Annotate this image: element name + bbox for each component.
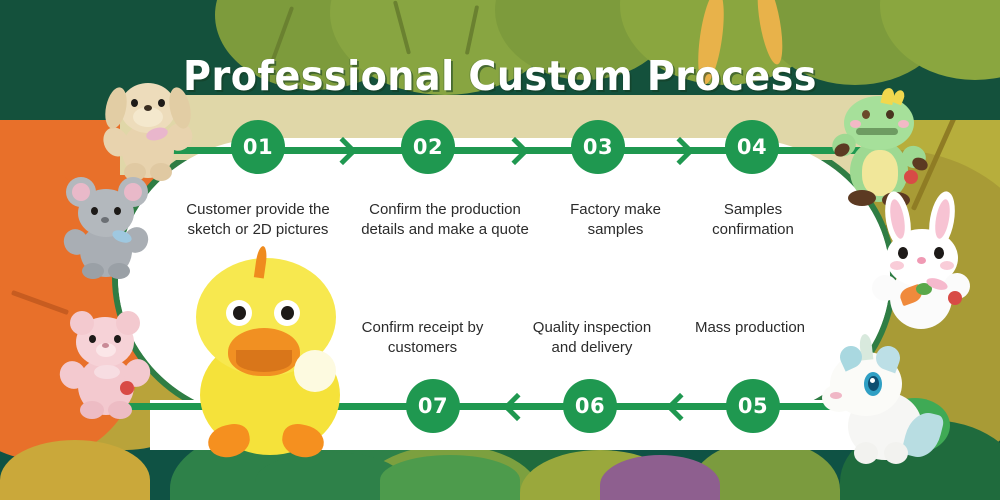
step-circle-03[interactable]: 03 [571,120,625,174]
step-circle-01[interactable]: 01 [231,120,285,174]
step-circle-02[interactable]: 02 [401,120,455,174]
arrow-left-icon [507,397,527,417]
step-caption-07: Confirm receipt by customers [335,318,510,359]
step-caption-06: Quality inspection and delivery [512,318,672,359]
caption-line: Factory make [538,200,693,220]
arrow-right-icon [333,141,353,161]
step-circle-05[interactable]: 05 [726,379,780,433]
step-caption-05: Mass production [675,318,825,338]
caption-line: Quality inspection [512,318,672,338]
caption-line: details and make a quote [345,220,545,240]
arrow-right-icon [670,141,690,161]
step-number: 03 [583,135,613,159]
step-caption-02: Confirm the production details and make … [345,200,545,241]
step-number: 07 [418,394,448,418]
step-number: 06 [575,394,605,418]
step-number: 01 [243,135,273,159]
caption-line: confirmation [678,220,828,240]
step-number: 04 [737,135,767,159]
caption-line: and delivery [512,338,672,358]
caption-line: Confirm the production [345,200,545,220]
step-number: 05 [738,394,768,418]
caption-line: Samples [678,200,828,220]
caption-line: customers [335,338,510,358]
caption-line: Customer provide the [158,200,358,220]
unicorn-plush [820,322,940,462]
infographic-canvas: Professional Custom Process 01 02 03 04 … [0,0,1000,500]
pink-bear-plush [58,305,158,420]
arrow-left-icon [670,397,690,417]
step-caption-04: Samples confirmation [678,200,828,241]
bush [380,455,520,500]
caption-line: samples [538,220,693,240]
caption-line: Mass production [675,318,825,338]
caption-line: Confirm receipt by [335,318,510,338]
step-circle-04[interactable]: 04 [725,120,779,174]
caption-line: sketch or 2D pictures [158,220,358,240]
page-title: Professional Custom Process [35,52,965,100]
step-number: 02 [413,135,443,159]
mouse-plush [62,175,157,280]
step-circle-06[interactable]: 06 [563,379,617,433]
arrow-right-icon [505,141,525,161]
step-caption-01: Customer provide the sketch or 2D pictur… [158,200,358,241]
step-circle-07[interactable]: 07 [406,379,460,433]
step-caption-03: Factory make samples [538,200,693,241]
rabbit-plush [868,195,978,330]
